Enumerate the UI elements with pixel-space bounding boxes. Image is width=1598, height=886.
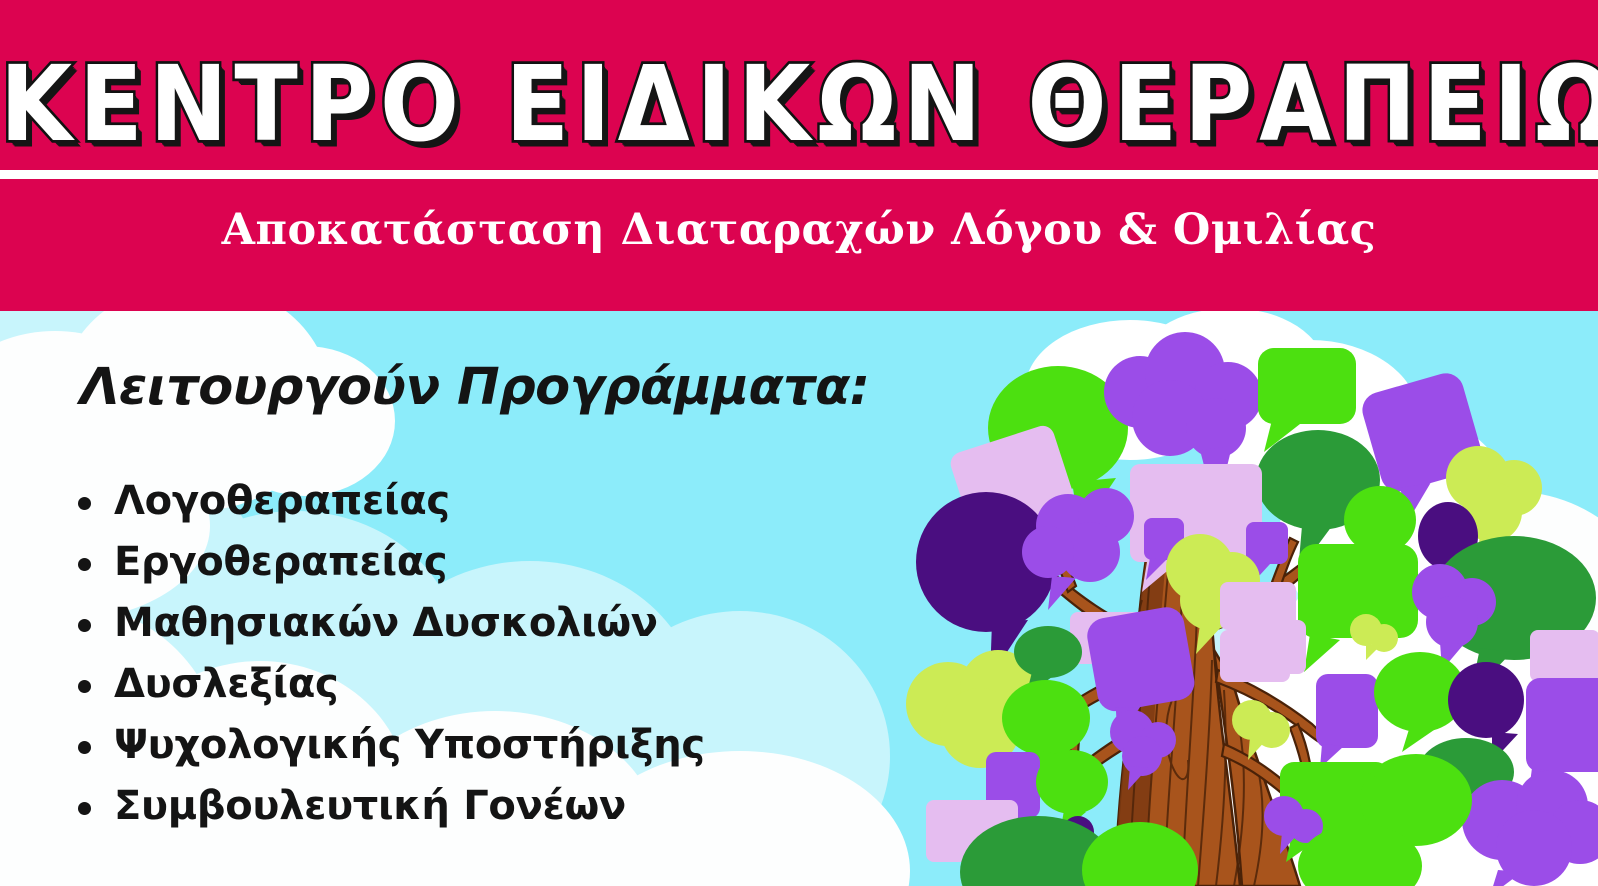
- program-list-item: Δυσλεξίας: [72, 654, 705, 715]
- program-label: Μαθησιακών Δυσκολιών: [114, 600, 658, 646]
- program-label: Λογοθεραπείας: [114, 478, 450, 524]
- bullet-icon: [78, 497, 91, 510]
- bullet-icon: [78, 558, 91, 571]
- programs-heading: Λειτουργούν Προγράμματα:: [80, 359, 870, 417]
- page-title: ΚΕΝΤΡΟ ΕΙΔΙΚΩΝ ΘΕΡΑΠΕΙΩΝ: [0, 48, 1598, 160]
- bullet-icon: [78, 802, 91, 815]
- program-list-item: Μαθησιακών Δυσκολιών: [72, 593, 705, 654]
- program-label: Συμβουλευτική Γονέων: [114, 783, 626, 829]
- program-list-item: Συμβουλευτική Γονέων: [72, 776, 705, 837]
- bullet-icon: [78, 680, 91, 693]
- page-subtitle: Αποκατάσταση Διαταραχών Λόγου & Ομιλίας: [0, 204, 1598, 256]
- program-label: Εργοθεραπείας: [114, 539, 447, 585]
- poster-canvas: Λειτουργούν Προγράμματα: Λογοθεραπείας Ε…: [0, 0, 1598, 886]
- program-list-item: Ψυχολογικής Υποστήριξης: [72, 715, 705, 776]
- speech-bubble-tree-illustration: [880, 300, 1598, 886]
- banner-divider-line: [0, 170, 1598, 179]
- program-label: Ψυχολογικής Υποστήριξης: [114, 722, 705, 768]
- program-list-item: Εργοθεραπείας: [72, 532, 705, 593]
- program-label: Δυσλεξίας: [114, 661, 338, 707]
- programs-list: Λογοθεραπείας Εργοθεραπείας Μαθησιακών Δ…: [72, 471, 705, 837]
- bullet-icon: [78, 741, 91, 754]
- programs-panel: Λειτουργούν Προγράμματα: Λογοθεραπείας Ε…: [0, 311, 900, 886]
- program-list-item: Λογοθεραπείας: [72, 471, 705, 532]
- bullet-icon: [78, 619, 91, 632]
